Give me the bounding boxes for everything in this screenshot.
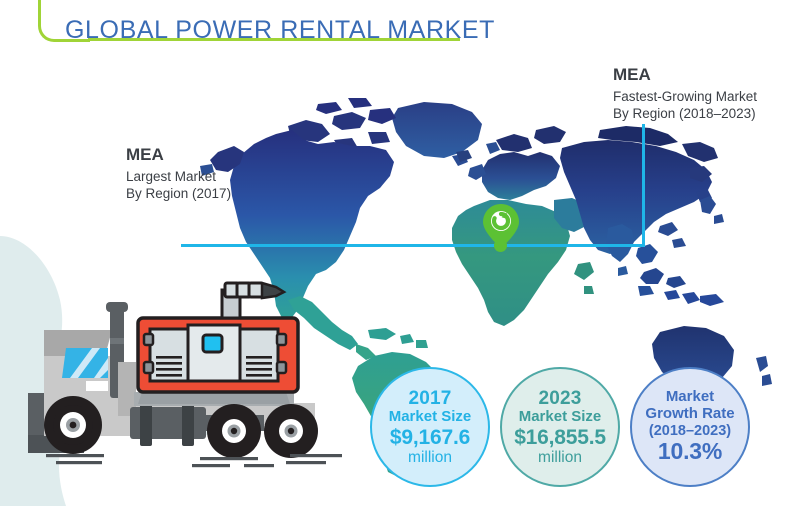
stat-2023-market-size: 2023 Market Size $16,855.5 million [500,367,620,487]
stat-cagr-line2: Growth Rate [645,406,734,423]
stat-2017-unit: million [408,449,452,466]
stat-cagr-line1: Market [666,389,714,406]
infographic-canvas: GLOBAL POWER RENTAL MARKET [0,0,800,506]
stat-2023-year: 2023 [538,388,581,409]
stat-2017-year: 2017 [408,388,451,409]
stat-2023-unit: million [538,449,582,466]
generator-unit [138,283,298,392]
stat-2017-value: $9,167.6 [390,426,470,450]
stat-2023-value: $16,855.5 [514,426,606,450]
stat-market-growth-rate: Market Growth Rate (2018–2023) 10.3% [630,367,750,487]
stat-cagr-line3: (2018–2023) [649,423,731,439]
stat-2017-label: Market Size [389,409,472,426]
motion-lines [46,454,342,467]
stat-2023-label: Market Size [519,409,602,426]
stat-2017-market-size: 2017 Market Size $9,167.6 million [370,367,490,487]
stat-cagr-value: 10.3% [658,439,722,465]
